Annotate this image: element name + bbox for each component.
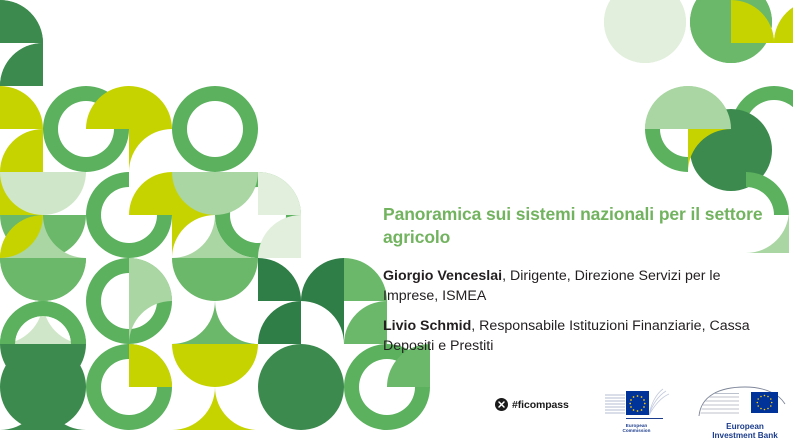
european-investment-bank-logo: European Investment Bank	[695, 386, 793, 436]
eib-caption: European Investment Bank	[695, 422, 793, 440]
ficompass-badge[interactable]: #ficompass	[495, 398, 569, 411]
european-commission-logo: European Commission	[603, 386, 678, 432]
eib-emblem-icon	[695, 386, 793, 418]
eu-flag-icon	[603, 386, 678, 420]
footer-logo-row: #ficompass	[383, 386, 783, 438]
speaker-1-name: Giorgio Venceslai	[383, 268, 502, 284]
title-block: Panoramica sui sistemi nazionali per il …	[383, 203, 765, 249]
eib-caption-line2: Investment Bank	[695, 431, 793, 440]
speaker-1: Giorgio Venceslai, Dirigente, Direzione …	[383, 267, 775, 307]
presentation-slide: Panoramica sui sistemi nazionali per il …	[0, 0, 793, 446]
ficompass-label: #ficompass	[512, 399, 569, 411]
x-circle-icon	[495, 398, 508, 411]
ec-caption-line2: Commission	[599, 428, 674, 433]
speaker-2: Livio Schmid, Responsabile Istituzioni F…	[383, 317, 775, 357]
speaker-2-name: Livio Schmid	[383, 318, 471, 334]
page-title: Panoramica sui sistemi nazionali per il …	[383, 203, 765, 249]
eib-caption-line1: European	[695, 422, 793, 431]
ec-caption: European Commission	[599, 423, 674, 434]
